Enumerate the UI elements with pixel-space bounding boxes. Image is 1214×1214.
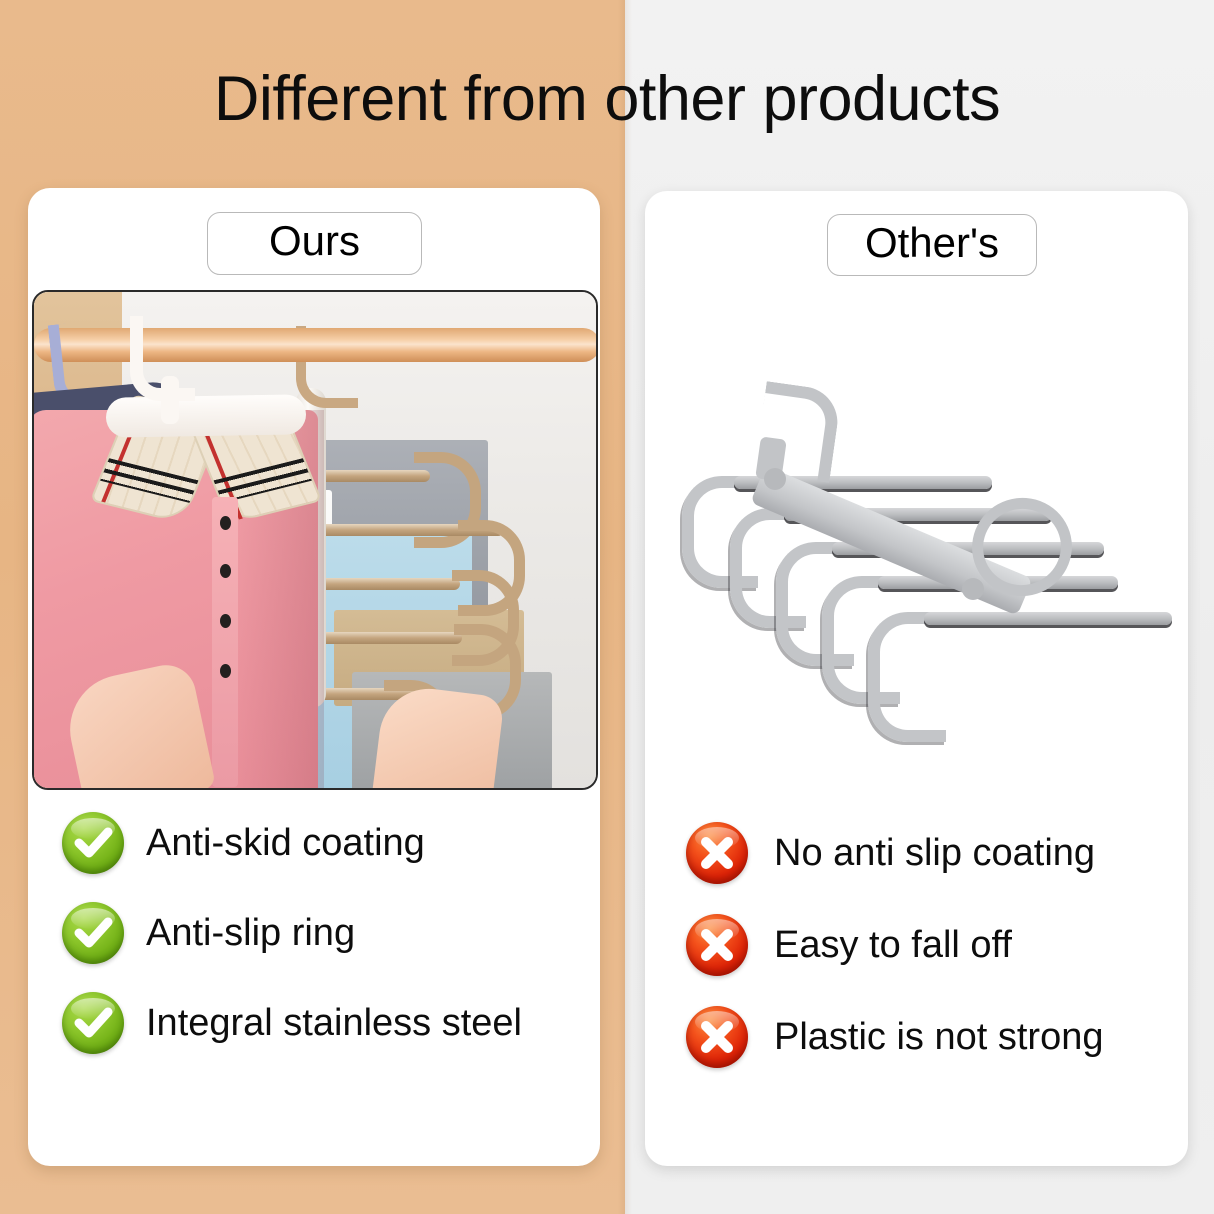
check-circle-icon (62, 992, 124, 1054)
ours-feature-list: Anti-skid coating Anti-slip ring Integra… (62, 812, 582, 1082)
list-item: No anti slip coating (686, 822, 1166, 884)
other-hanger-arm-5 (924, 612, 1172, 625)
list-item: Plastic is not strong (686, 1006, 1166, 1068)
drawback-label: No anti slip coating (774, 830, 1095, 876)
list-item: Anti-skid coating (62, 812, 582, 874)
other-hanger-joint-2 (962, 578, 984, 600)
ours-badge: Ours (207, 212, 422, 275)
list-item: Integral stainless steel (62, 992, 582, 1054)
drawback-label: Easy to fall off (774, 922, 1012, 968)
check-circle-icon (62, 812, 124, 874)
ours-product-photo (32, 290, 598, 790)
feature-label: Anti-skid coating (146, 820, 425, 866)
feature-label: Anti-slip ring (146, 910, 355, 956)
photo-shirt-button-4 (220, 664, 231, 678)
feature-label: Integral stainless steel (146, 1000, 522, 1046)
other-badge: Other's (827, 214, 1037, 276)
comparison-infographic: Different from other products Ours (0, 0, 1214, 1214)
photo-closet-rod (34, 328, 598, 362)
check-glyph-icon (62, 902, 124, 964)
photo-shirt-button-1 (220, 516, 231, 530)
list-item: Easy to fall off (686, 914, 1166, 976)
check-circle-icon (62, 902, 124, 964)
background-divider (618, 0, 632, 1214)
drawback-label: Plastic is not strong (774, 1014, 1103, 1060)
page-title: Different from other products (0, 62, 1214, 136)
other-product-photo (672, 380, 1172, 710)
other-feature-list: No anti slip coating Easy to fall off Pl… (686, 822, 1166, 1098)
other-hanger-arc-5 (868, 612, 946, 742)
list-item: Anti-slip ring (62, 902, 582, 964)
cross-circle-icon (686, 822, 748, 884)
photo-shirt-button-3 (220, 614, 231, 628)
photo-shirt-button-2 (220, 564, 231, 578)
cross-glyph-icon (686, 1006, 748, 1068)
check-glyph-icon (62, 812, 124, 874)
photo-white-hook-stem (161, 376, 179, 424)
cross-circle-icon (686, 914, 748, 976)
photo-shirt-hanger-bar (106, 394, 307, 437)
photo-shirt-placket (212, 497, 238, 787)
cross-glyph-icon (686, 822, 748, 884)
cross-circle-icon (686, 1006, 748, 1068)
other-hanger-joint-1 (764, 468, 786, 490)
check-glyph-icon (62, 992, 124, 1054)
cross-glyph-icon (686, 914, 748, 976)
